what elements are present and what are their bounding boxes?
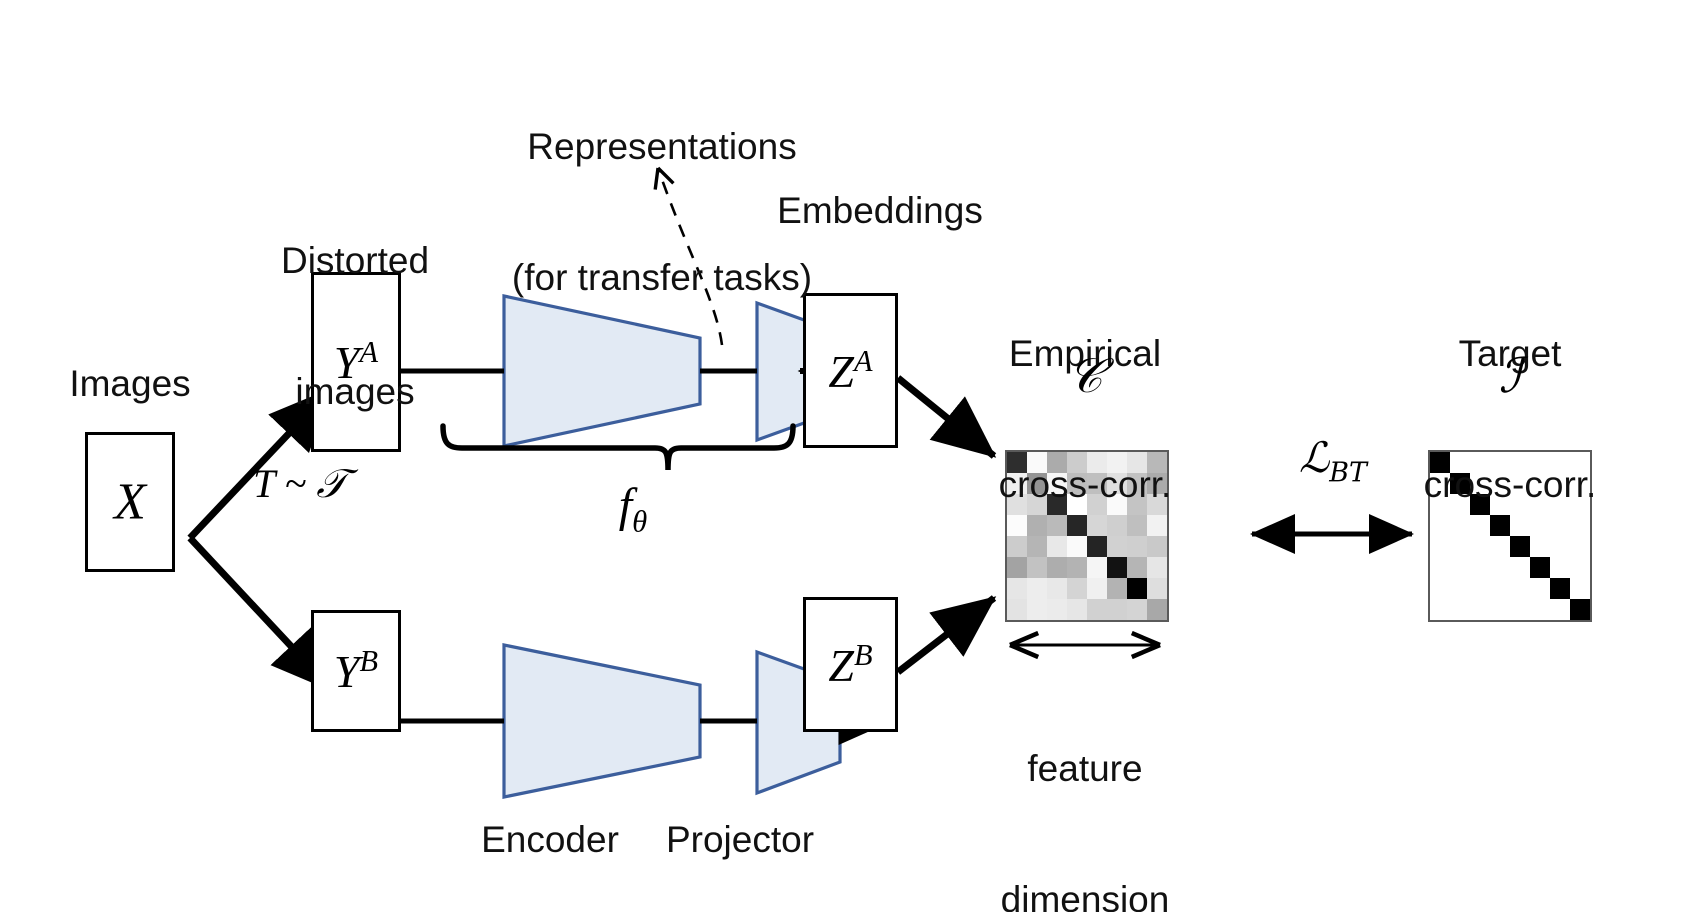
matrix-cell bbox=[1067, 599, 1087, 620]
embedding-box-zb-label: ZB bbox=[828, 637, 872, 691]
matrix-cell bbox=[1550, 599, 1570, 620]
distorted-line-1: Distorted bbox=[195, 239, 515, 283]
matrix-cell bbox=[1047, 599, 1067, 620]
projector-caption: Projector bbox=[620, 818, 860, 862]
matrix-cell bbox=[1510, 599, 1530, 620]
matrix-cell bbox=[1430, 599, 1450, 620]
target-caption: Target cross-corr. bbox=[1390, 245, 1630, 594]
matrix-cell bbox=[1087, 599, 1107, 620]
images-caption: Images bbox=[35, 362, 225, 406]
representations-line-2: (for transfer tasks) bbox=[452, 256, 872, 300]
empirical-line-2: cross-corr. bbox=[965, 463, 1205, 507]
embedding-box-zb: ZB bbox=[803, 597, 898, 732]
matrix-cell bbox=[1470, 599, 1490, 620]
embeddings-caption: Embeddings bbox=[700, 189, 1060, 233]
distorted-images-caption: Distorted images bbox=[195, 152, 515, 501]
matrix-cell bbox=[1127, 599, 1147, 620]
input-box-label: X bbox=[114, 473, 146, 532]
view-box-yb: YB bbox=[311, 610, 401, 732]
target-matrix-symbol: ℐ bbox=[1445, 348, 1575, 404]
loss-symbol: ℒBT bbox=[1238, 433, 1428, 488]
empirical-caption: Empirical cross-corr. bbox=[965, 245, 1205, 594]
empirical-matrix-symbol: 𝒞 bbox=[1020, 348, 1150, 405]
feature-line-2: dimension bbox=[960, 878, 1210, 912]
matrix-cell bbox=[1027, 599, 1047, 620]
matrix-cell bbox=[1570, 599, 1590, 620]
feature-line-1: feature bbox=[960, 747, 1210, 791]
matrix-cell bbox=[1107, 599, 1127, 620]
matrix-cell bbox=[1450, 599, 1470, 620]
matrix-cell bbox=[1147, 599, 1167, 620]
input-box-x: X bbox=[85, 432, 175, 572]
matrix-cell bbox=[1490, 599, 1510, 620]
encoder-trapezoid-bottom bbox=[504, 645, 700, 797]
view-box-yb-label: YB bbox=[334, 644, 378, 698]
network-symbol-f-theta: fθ bbox=[568, 478, 698, 540]
representations-line-1: Representations bbox=[452, 125, 872, 169]
matrix-cell bbox=[1007, 599, 1027, 620]
distorted-line-2: images bbox=[195, 370, 515, 414]
matrix-cell bbox=[1530, 599, 1550, 620]
transform-symbol: T ~ 𝒯 bbox=[190, 460, 410, 507]
feature-dimension-caption: feature dimension bbox=[960, 660, 1210, 912]
figure-canvas: X YA YB ZA ZB Representations (for trans… bbox=[0, 0, 1698, 912]
